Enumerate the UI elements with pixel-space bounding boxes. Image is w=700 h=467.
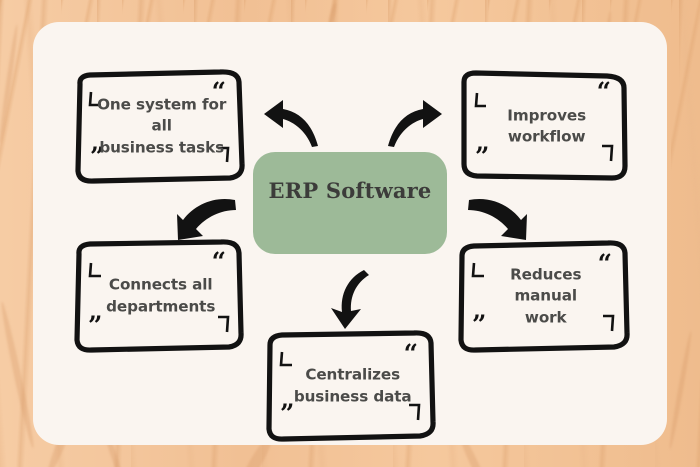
card-one-system[interactable]: “ ” One system for all business tasks [70, 68, 248, 185]
card-text: One system for all business tasks [95, 94, 229, 159]
card-text-line2: departments [93, 296, 228, 318]
arrow-to-connects [175, 196, 237, 248]
card-text: Connects all departments [93, 274, 228, 317]
card-text: Centralizes business data [285, 364, 420, 407]
card-text-line1: Reduces manual [477, 264, 614, 307]
open-quote-icon: “ [212, 249, 226, 274]
card-text-line1: Connects all [93, 274, 228, 296]
card-text-line1: One system for all [95, 94, 229, 137]
erp-software-diagram: ERP Software “ ” One system for all busi… [0, 0, 700, 467]
open-quote-icon: “ [404, 341, 418, 366]
card-reduces-manual-work[interactable]: “ ” Reduces manual work [452, 240, 634, 353]
arrow-to-centralizes [326, 268, 374, 330]
center-node-erp-software[interactable]: ERP Software [253, 152, 447, 254]
center-node-label: ERP Software [269, 178, 432, 203]
card-text-line2: workflow [480, 127, 614, 149]
arrow-to-improves-workflow [384, 98, 444, 148]
card-text-line1: Centralizes [285, 364, 420, 386]
card-text-line2: work [477, 307, 614, 329]
card-text: Reduces manual work [477, 264, 614, 329]
card-improves-workflow[interactable]: “ ” Improves workflow [455, 68, 633, 185]
card-connects-departments[interactable]: “ ” Connects all departments [68, 238, 248, 354]
card-text-line2: business data [285, 386, 420, 408]
arrow-to-reduces [467, 196, 529, 248]
card-centralizes-data[interactable]: “ ” Centralizes business data [260, 330, 440, 442]
card-text-line2: business tasks [95, 137, 229, 159]
card-text-line1: Improves [480, 105, 614, 127]
arrow-to-one-system [262, 98, 322, 148]
open-quote-icon: “ [597, 79, 611, 104]
card-text: Improves workflow [480, 105, 614, 148]
